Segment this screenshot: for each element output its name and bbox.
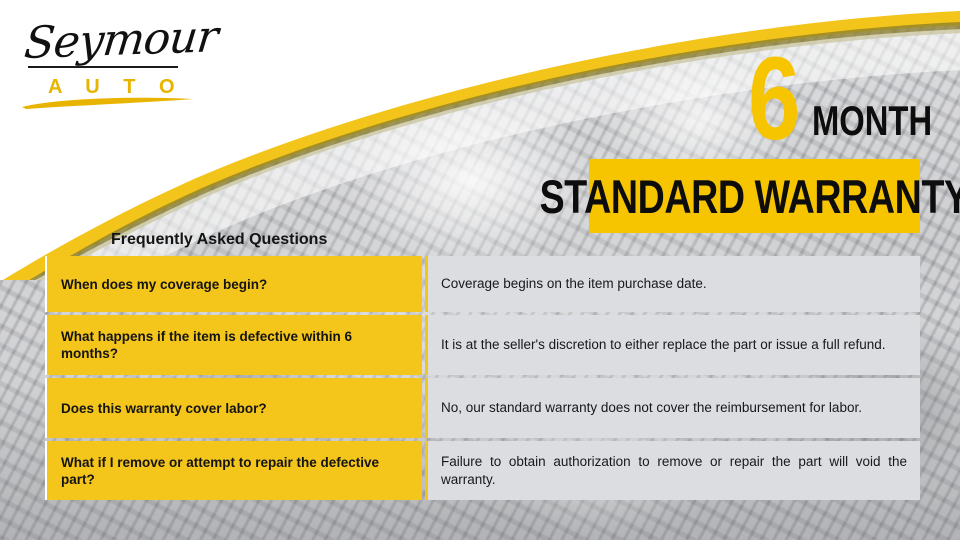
faq-question-cell: What if I remove or attempt to repair th… xyxy=(45,441,422,500)
faq-answer-cell: It is at the seller's discretion to eith… xyxy=(425,315,920,375)
table-row: What happens if the item is defective wi… xyxy=(45,315,920,375)
warranty-duration-unit: MONTH xyxy=(812,99,932,143)
faq-question-cell: What happens if the item is defective wi… xyxy=(45,315,422,375)
standard-warranty-banner-label: STANDARD WARRANTY xyxy=(540,173,960,220)
faq-question-cell: Does this warranty cover labor? xyxy=(45,378,422,438)
faq-answer-text: Coverage begins on the item purchase dat… xyxy=(441,275,907,293)
standard-warranty-banner: STANDARD WARRANTY xyxy=(589,159,920,233)
faq-answer-cell: Coverage begins on the item purchase dat… xyxy=(425,256,920,312)
faq-answer-text: No, our standard warranty does not cover… xyxy=(441,399,907,417)
table-row: What if I remove or attempt to repair th… xyxy=(45,441,920,500)
faq-table: When does my coverage begin? Coverage be… xyxy=(45,256,920,500)
faq-answer-cell: Failure to obtain authorization to remov… xyxy=(425,441,920,500)
seymour-auto-logo: Seymour A U T O xyxy=(14,14,224,114)
table-row: When does my coverage begin? Coverage be… xyxy=(45,256,920,312)
faq-question-cell: When does my coverage begin? xyxy=(45,256,422,312)
logo-swoosh-icon xyxy=(20,96,195,110)
faq-answer-text: Failure to obtain authorization to remov… xyxy=(441,453,907,489)
faq-section-heading: Frequently Asked Questions xyxy=(111,231,327,249)
warranty-duration-number: 6 xyxy=(748,47,798,151)
faq-answer-cell: No, our standard warranty does not cover… xyxy=(425,378,920,438)
logo-wordmark: Seymour xyxy=(22,11,220,69)
warranty-slide: Seymour A U T O 6 MONTH STANDARD WARRANT… xyxy=(0,0,960,540)
table-row: Does this warranty cover labor? No, our … xyxy=(45,378,920,438)
faq-answer-text: It is at the seller's discretion to eith… xyxy=(441,336,907,354)
logo-underline-rule xyxy=(28,66,178,68)
